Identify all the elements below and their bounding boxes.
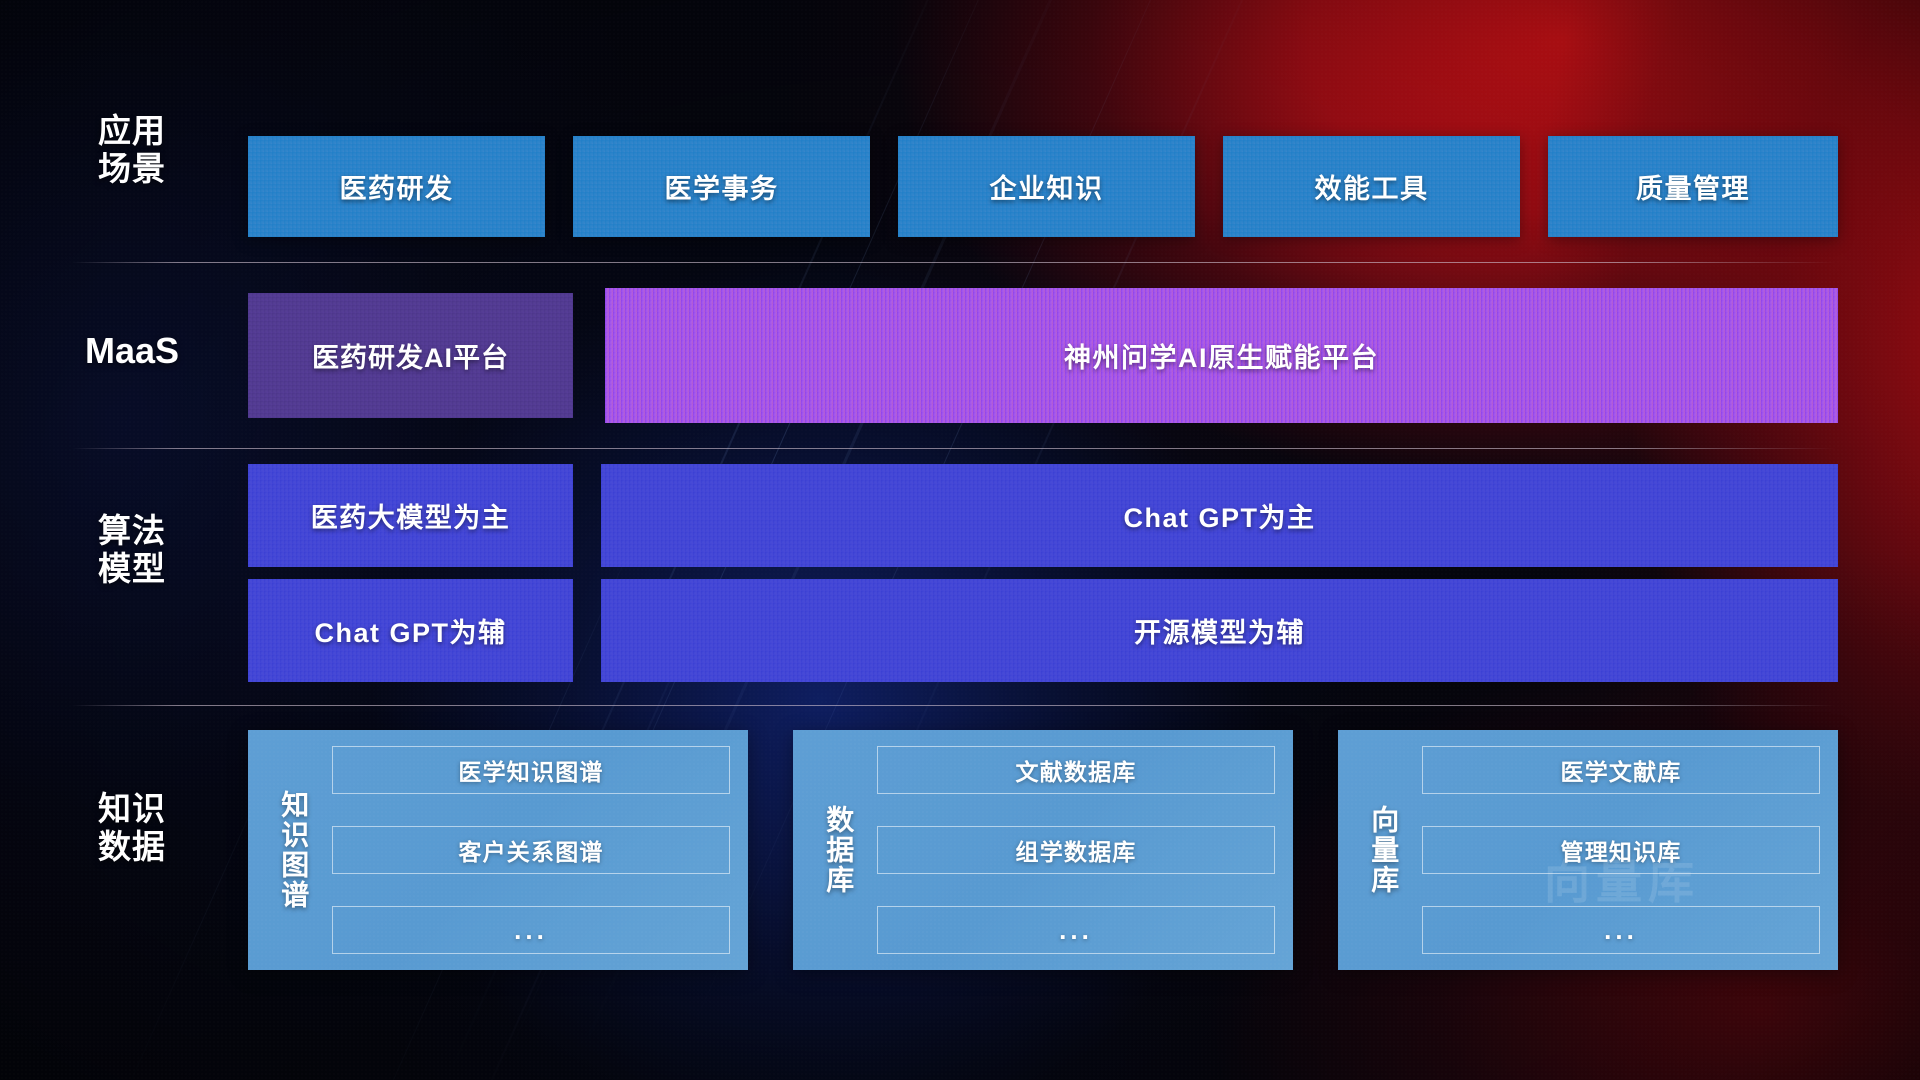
knowledge-panel-database[interactable]: 数据库 文献数据库 组学数据库 ... xyxy=(793,730,1293,970)
algo-box-chatgpt-primary[interactable]: Chat GPT为主 xyxy=(601,464,1838,567)
row-label-algorithm: 算法 模型 xyxy=(72,512,192,587)
separator-application-maas xyxy=(72,262,1835,263)
knowledge-item-customer-graph[interactable]: 客户关系图谱 xyxy=(332,826,730,874)
knowledge-item-medical-graph[interactable]: 医学知识图谱 xyxy=(332,746,730,794)
knowledge-item-database-more[interactable]: ... xyxy=(877,906,1275,954)
row-label-knowledge: 知识 数据 xyxy=(72,790,192,865)
algo-box-opensource-auxiliary[interactable]: 开源模型为辅 xyxy=(601,579,1838,682)
separator-maas-algorithm xyxy=(72,448,1835,449)
app-box-medical-affairs[interactable]: 医学事务 xyxy=(573,136,870,237)
knowledge-item-vector-more[interactable]: ... xyxy=(1422,906,1820,954)
architecture-diagram: 应用 场景 医药研发 医学事务 企业知识 效能工具 质量管理 MaaS 医药研发… xyxy=(0,0,1920,1080)
app-box-enterprise-knowledge[interactable]: 企业知识 xyxy=(898,136,1195,237)
knowledge-panel-vector[interactable]: 向量库 医学文献库 管理知识库 ... 向量库 xyxy=(1338,730,1838,970)
knowledge-item-omics-db[interactable]: 组学数据库 xyxy=(877,826,1275,874)
row-label-application: 应用 场景 xyxy=(72,112,192,187)
knowledge-item-management-kb[interactable]: 管理知识库 xyxy=(1422,826,1820,874)
algo-box-pharma-llm-primary[interactable]: 医药大模型为主 xyxy=(248,464,573,567)
maas-box-shenzhou-platform[interactable]: 神州问学AI原生赋能平台 xyxy=(605,288,1838,423)
row-label-algorithm-line2: 模型 xyxy=(72,550,192,588)
knowledge-item-graph-more[interactable]: ... xyxy=(332,906,730,954)
knowledge-panel-vector-items: 医学文献库 管理知识库 ... xyxy=(1422,746,1820,954)
row-label-application-line1: 应用 xyxy=(72,112,192,150)
app-box-quality-management[interactable]: 质量管理 xyxy=(1548,136,1838,237)
app-box-efficiency-tools[interactable]: 效能工具 xyxy=(1223,136,1520,237)
knowledge-item-medical-literature[interactable]: 医学文献库 xyxy=(1422,746,1820,794)
separator-algorithm-knowledge xyxy=(72,705,1835,706)
maas-box-pharma-ai-platform[interactable]: 医药研发AI平台 xyxy=(248,293,573,418)
knowledge-panel-database-label: 数据库 xyxy=(809,746,867,954)
knowledge-panel-graph-label: 知识图谱 xyxy=(264,746,322,954)
knowledge-item-literature-db[interactable]: 文献数据库 xyxy=(877,746,1275,794)
row-label-knowledge-line2: 数据 xyxy=(72,828,192,866)
row-label-knowledge-line1: 知识 xyxy=(72,790,192,828)
row-label-algorithm-line1: 算法 xyxy=(72,512,192,550)
knowledge-panel-graph-items: 医学知识图谱 客户关系图谱 ... xyxy=(332,746,730,954)
app-box-pharma-rd[interactable]: 医药研发 xyxy=(248,136,545,237)
knowledge-panel-vector-label: 向量库 xyxy=(1354,746,1412,954)
row-label-application-line2: 场景 xyxy=(72,150,192,188)
knowledge-panel-graph[interactable]: 知识图谱 医学知识图谱 客户关系图谱 ... xyxy=(248,730,748,970)
row-label-maas: MaaS xyxy=(72,330,192,371)
knowledge-panel-database-items: 文献数据库 组学数据库 ... xyxy=(877,746,1275,954)
algo-box-chatgpt-auxiliary[interactable]: Chat GPT为辅 xyxy=(248,579,573,682)
